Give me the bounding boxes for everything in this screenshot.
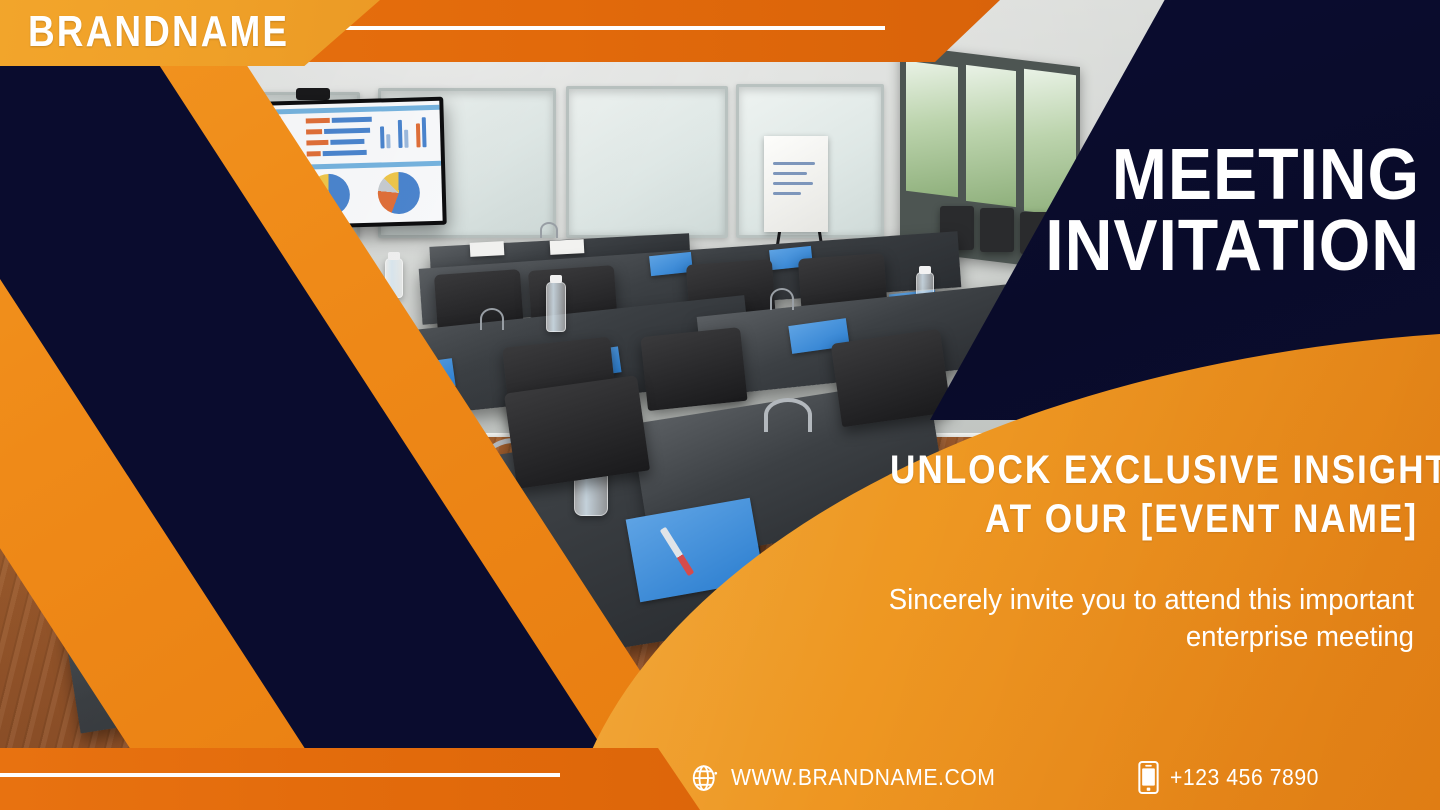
poster-title: MEETING INVITATION (860, 140, 1420, 281)
phone-text: +123 456 7890 (1170, 764, 1319, 791)
headline-block: UNLOCK EXCLUSIVE INSIGHTS AT OUR [EVENT … (818, 446, 1418, 544)
title-line-2: INVITATION (905, 211, 1420, 282)
title-line-1: MEETING (905, 140, 1420, 211)
brand-name: BRANDNAME (28, 10, 289, 54)
footer-contact-bar: WWW.BRANDNAME.COM +123 456 7890 (690, 761, 1332, 794)
meeting-invitation-poster: BRANDNAME MEETING INVITATION UNLOCK EXCL… (0, 0, 1440, 810)
bottom-banner-bar (0, 748, 700, 810)
website-text: WWW.BRANDNAME.COM (731, 764, 995, 791)
globe-icon (690, 763, 720, 793)
phone-icon (1138, 761, 1159, 794)
top-banner-rule (345, 26, 885, 30)
headline-line-1: UNLOCK EXCLUSIVE INSIGHTS (890, 446, 1418, 495)
phone-contact[interactable]: +123 456 7890 (1138, 761, 1332, 794)
invitation-subtext: Sincerely invite you to attend this impo… (816, 582, 1415, 655)
bottom-banner-rule (0, 773, 560, 777)
headline-line-2: AT OUR [EVENT NAME] (890, 495, 1418, 544)
website-contact[interactable]: WWW.BRANDNAME.COM (690, 763, 1018, 793)
